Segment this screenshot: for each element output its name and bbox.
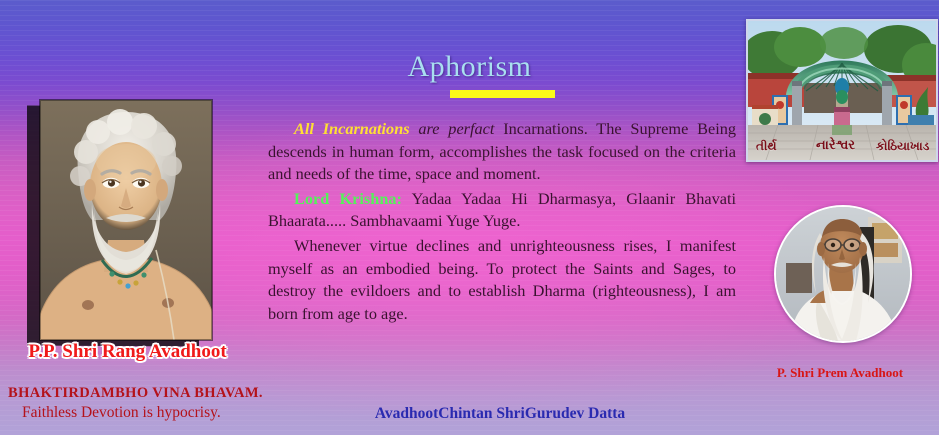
left-portrait-frame [40, 100, 212, 340]
gujarati-label-center: નારેશ્વર [816, 137, 855, 153]
gujarati-label-right: કોઠિયાખાડ [876, 139, 929, 154]
paragraph-translation: Whenever virtue declines and unrighteous… [268, 235, 736, 325]
paragraph-incarnations: All Incarnations are perfact Incarnation… [268, 118, 736, 186]
title-underline-bar [450, 90, 555, 98]
motto-sanskrit: BHAKTIRDAMBHO VINA BHAVAM. [8, 385, 328, 402]
portrait-prem-avadhoot [774, 205, 912, 343]
motto-english: Faithless Devotion is hypocrisy. [22, 404, 362, 422]
prem-avadhoot-illustration [776, 207, 910, 341]
italic-are-perfact: are perfact [410, 119, 495, 138]
slide-canvas: Aphorism All Incarnations are perfact In… [0, 0, 939, 435]
aphorism-text-block: All Incarnations are perfact Incarnation… [268, 118, 736, 325]
highlight-lord-krishna: Lord Krishna: [294, 189, 402, 208]
paragraph-krishna-verse: Lord Krishna: Yadaa Yadaa Hi Dharmasya, … [268, 188, 736, 233]
gujarati-label-left: તીર્થ [756, 139, 777, 154]
highlight-all-incarnations: All Incarnations [294, 119, 410, 138]
prem-portrait-caption: P. Shri Prem Avadhoot [740, 365, 939, 381]
sadhu-portrait-illustration [40, 100, 212, 340]
portrait-rang-avadhoot [40, 100, 212, 340]
temple-gateway-photo: તીર્થ નારેશ્વર કોઠિયાખાડ [746, 19, 938, 162]
left-portrait-caption: P.P. Shri Rang Avadhoot [0, 341, 255, 363]
footer-mantra: AvadhootChintan ShriGurudev Datta [330, 405, 670, 423]
